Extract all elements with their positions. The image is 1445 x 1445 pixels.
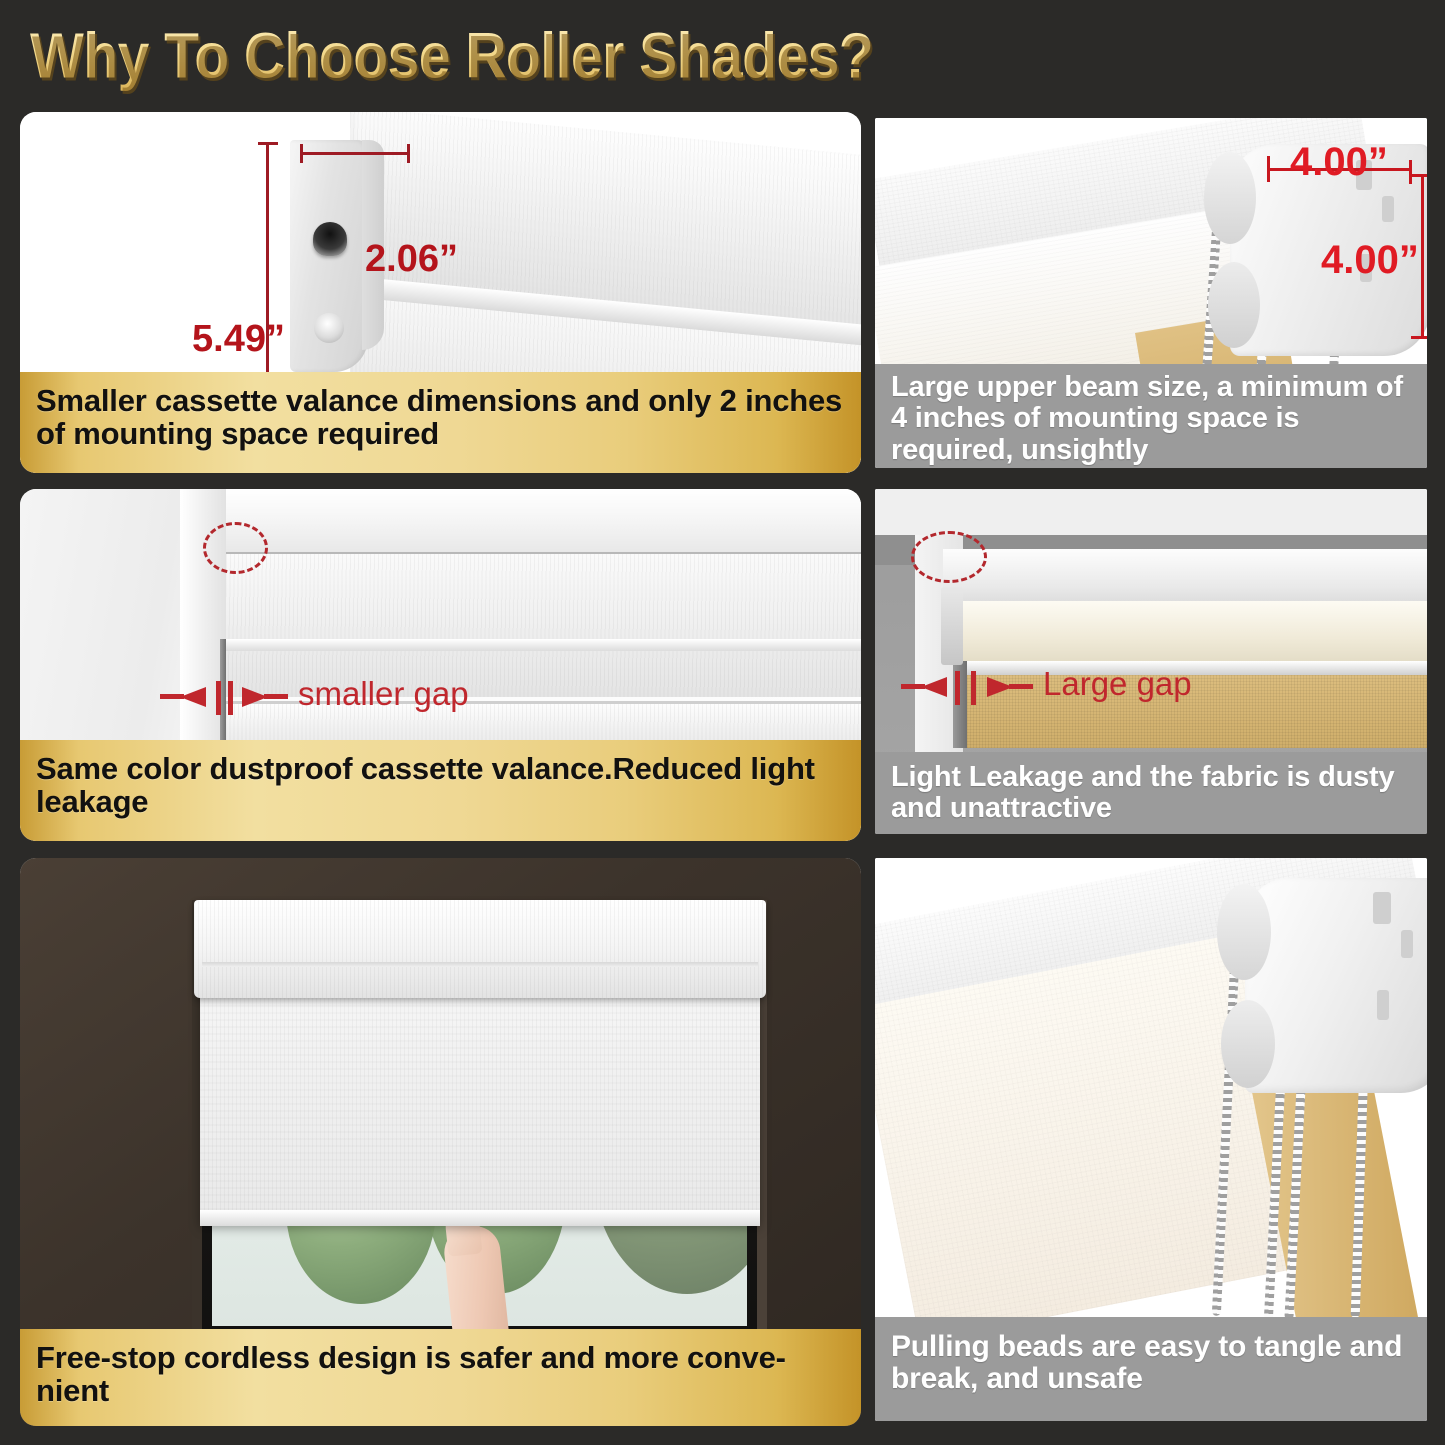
- height-dimension-label: 5.49”: [192, 318, 285, 361]
- panel-pulling-beads: Pulling beads are easy to tangle and bre…: [875, 858, 1427, 1421]
- bead-head-bracket: [1245, 878, 1427, 1093]
- panel-cordless-design: Free-stop cordless design is safer and m…: [20, 858, 861, 1426]
- valance-end-bracket: [290, 140, 368, 372]
- height-dimension-cap-top: [258, 142, 278, 145]
- highlight-ellipse-icon: [203, 522, 268, 574]
- bracket-tab-2: [1401, 930, 1413, 958]
- beam-height-cap-bottom: [1411, 336, 1427, 339]
- panel-large-gap: Large gap Light Leakage and the fabric i…: [875, 489, 1427, 834]
- wall-background: [875, 489, 1427, 535]
- bracket-tab-2: [1382, 196, 1394, 222]
- panel-2-caption: Large upper beam size, a minimum of 4 in…: [875, 364, 1427, 468]
- panel-3-caption: Same color dustproof cassette valance.Re…: [20, 740, 861, 841]
- window-frame-top: [180, 489, 861, 553]
- width-dimension-cap-right: [407, 144, 410, 163]
- panel-5-caption: Free-stop cordless design is safer and m…: [20, 1329, 861, 1426]
- beam-width-cap-left: [1267, 156, 1270, 182]
- beam-height-dimension-line: [1421, 174, 1424, 338]
- beam-width-dimension-label: 4.00”: [1290, 140, 1388, 185]
- cassette-valance: [194, 900, 766, 998]
- panel-4-caption: Light Leakage and the fabric is dusty an…: [875, 752, 1427, 834]
- panel-1-caption: Smaller cassette valance dimensions and …: [20, 372, 861, 473]
- panel-6-caption: Pulling beads are easy to tangle and bre…: [875, 1317, 1427, 1421]
- panel-smaller-gap: smaller gap Same color dustproof cassett…: [20, 489, 861, 841]
- width-dimension-label: 2.06”: [365, 238, 458, 281]
- beam-width-cap-right: [1409, 160, 1412, 184]
- bracket-tab-1: [1373, 892, 1391, 924]
- beam-roll: [955, 601, 1427, 663]
- large-gap-label: Large gap: [1043, 665, 1192, 703]
- bracket-tab-3: [1377, 990, 1389, 1020]
- title-bar: Why To Choose Roller Shades?: [0, 0, 1445, 112]
- mounting-clip: [941, 587, 963, 665]
- dusty-fabric: [967, 675, 1427, 748]
- width-dimension-cap-left: [300, 144, 303, 163]
- panel-large-upper-beam: 4.00” 4.00” Large upper beam size, a min…: [875, 118, 1427, 468]
- width-dimension-line: [300, 152, 410, 155]
- bracket-screw-icon: [314, 313, 344, 343]
- shade-bottom-rail: [200, 1210, 760, 1226]
- beam-height-cap-top: [1411, 174, 1427, 177]
- highlight-ellipse-icon: [911, 531, 987, 583]
- page-title: Why To Choose Roller Shades?: [30, 19, 873, 93]
- panel-smaller-cassette: 5.49” 2.06” Smaller cassette valance dim…: [20, 112, 861, 473]
- large-gap-bar: [953, 661, 967, 748]
- smaller-gap-label: smaller gap: [298, 675, 469, 713]
- beam-height-dimension-label: 4.00”: [1321, 238, 1419, 283]
- shade-middle-rail: [222, 639, 861, 651]
- bracket-slot-icon: [313, 222, 347, 256]
